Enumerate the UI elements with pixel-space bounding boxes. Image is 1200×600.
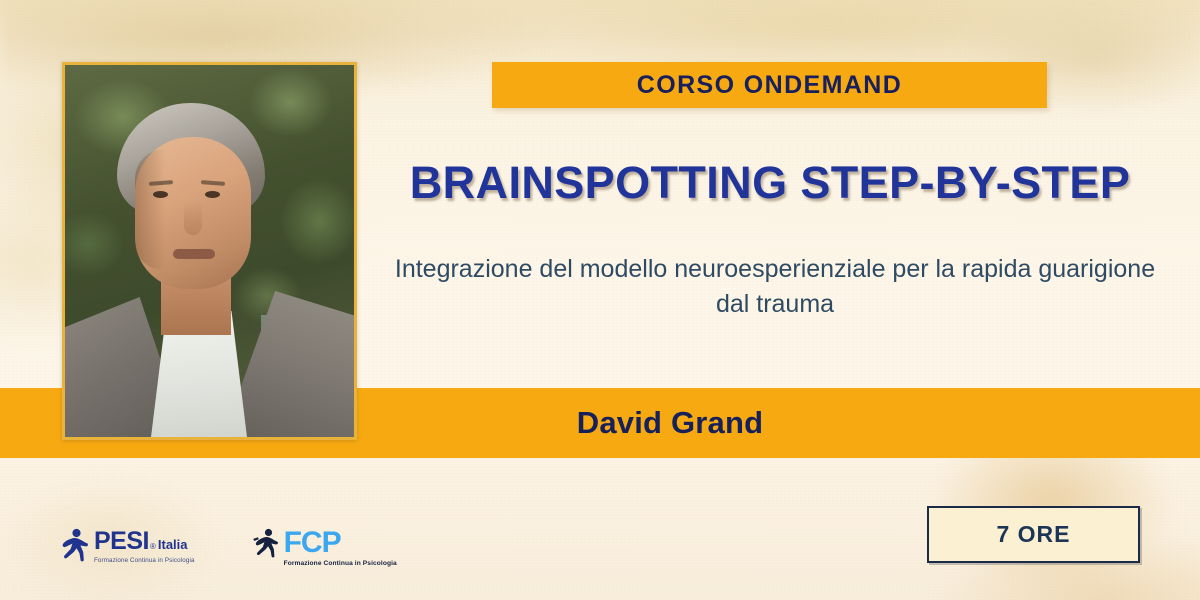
page-title: BRAINSPOTTING STEP-BY-STEP [380, 157, 1160, 209]
course-type-label: CORSO ONDEMAND [637, 71, 902, 100]
fcp-wordmark: FCP [284, 528, 397, 558]
fcp-logo-text: FCP Formazione Continua in Psicologia [284, 528, 397, 567]
pesi-italia-logo: PESI ® Italia Formazione Continua in Psi… [60, 528, 195, 564]
fcp-tagline: Formazione Continua in Psicologia [284, 560, 397, 567]
running-person-icon [253, 528, 281, 558]
speaker-portrait [62, 62, 357, 440]
running-person-icon [60, 528, 90, 562]
portrait-eye-right [205, 191, 220, 198]
pesi-wordmark: PESI [94, 529, 149, 554]
portrait-nose [184, 201, 202, 235]
pesi-wordmark-row: PESI ® Italia [94, 529, 195, 554]
speaker-name: David Grand [577, 405, 764, 441]
logo-row: PESI ® Italia Formazione Continua in Psi… [60, 528, 397, 567]
pesi-logo-text: PESI ® Italia Formazione Continua in Psi… [94, 528, 195, 564]
portrait-face-shadow [135, 149, 165, 269]
page-subtitle: Integrazione del modello neuroesperienzi… [390, 252, 1160, 321]
pesi-region-label: Italia [158, 538, 188, 551]
pesi-tagline: Formazione Continua in Psicologia [94, 557, 195, 564]
duration-label: 7 ORE [996, 521, 1070, 548]
portrait-foliage-background [65, 65, 354, 437]
fcp-logo: FCP Formazione Continua in Psicologia [253, 528, 397, 567]
portrait-mouth [173, 249, 215, 259]
course-type-badge: CORSO ONDEMAND [492, 62, 1047, 108]
duration-badge: 7 ORE [927, 506, 1140, 563]
portrait-eye-left [153, 191, 168, 198]
course-promo-banner: David Grand CORSO ONDEMAND BRAINSPOTTING… [0, 0, 1200, 600]
pesi-registered-mark: ® [150, 543, 156, 551]
